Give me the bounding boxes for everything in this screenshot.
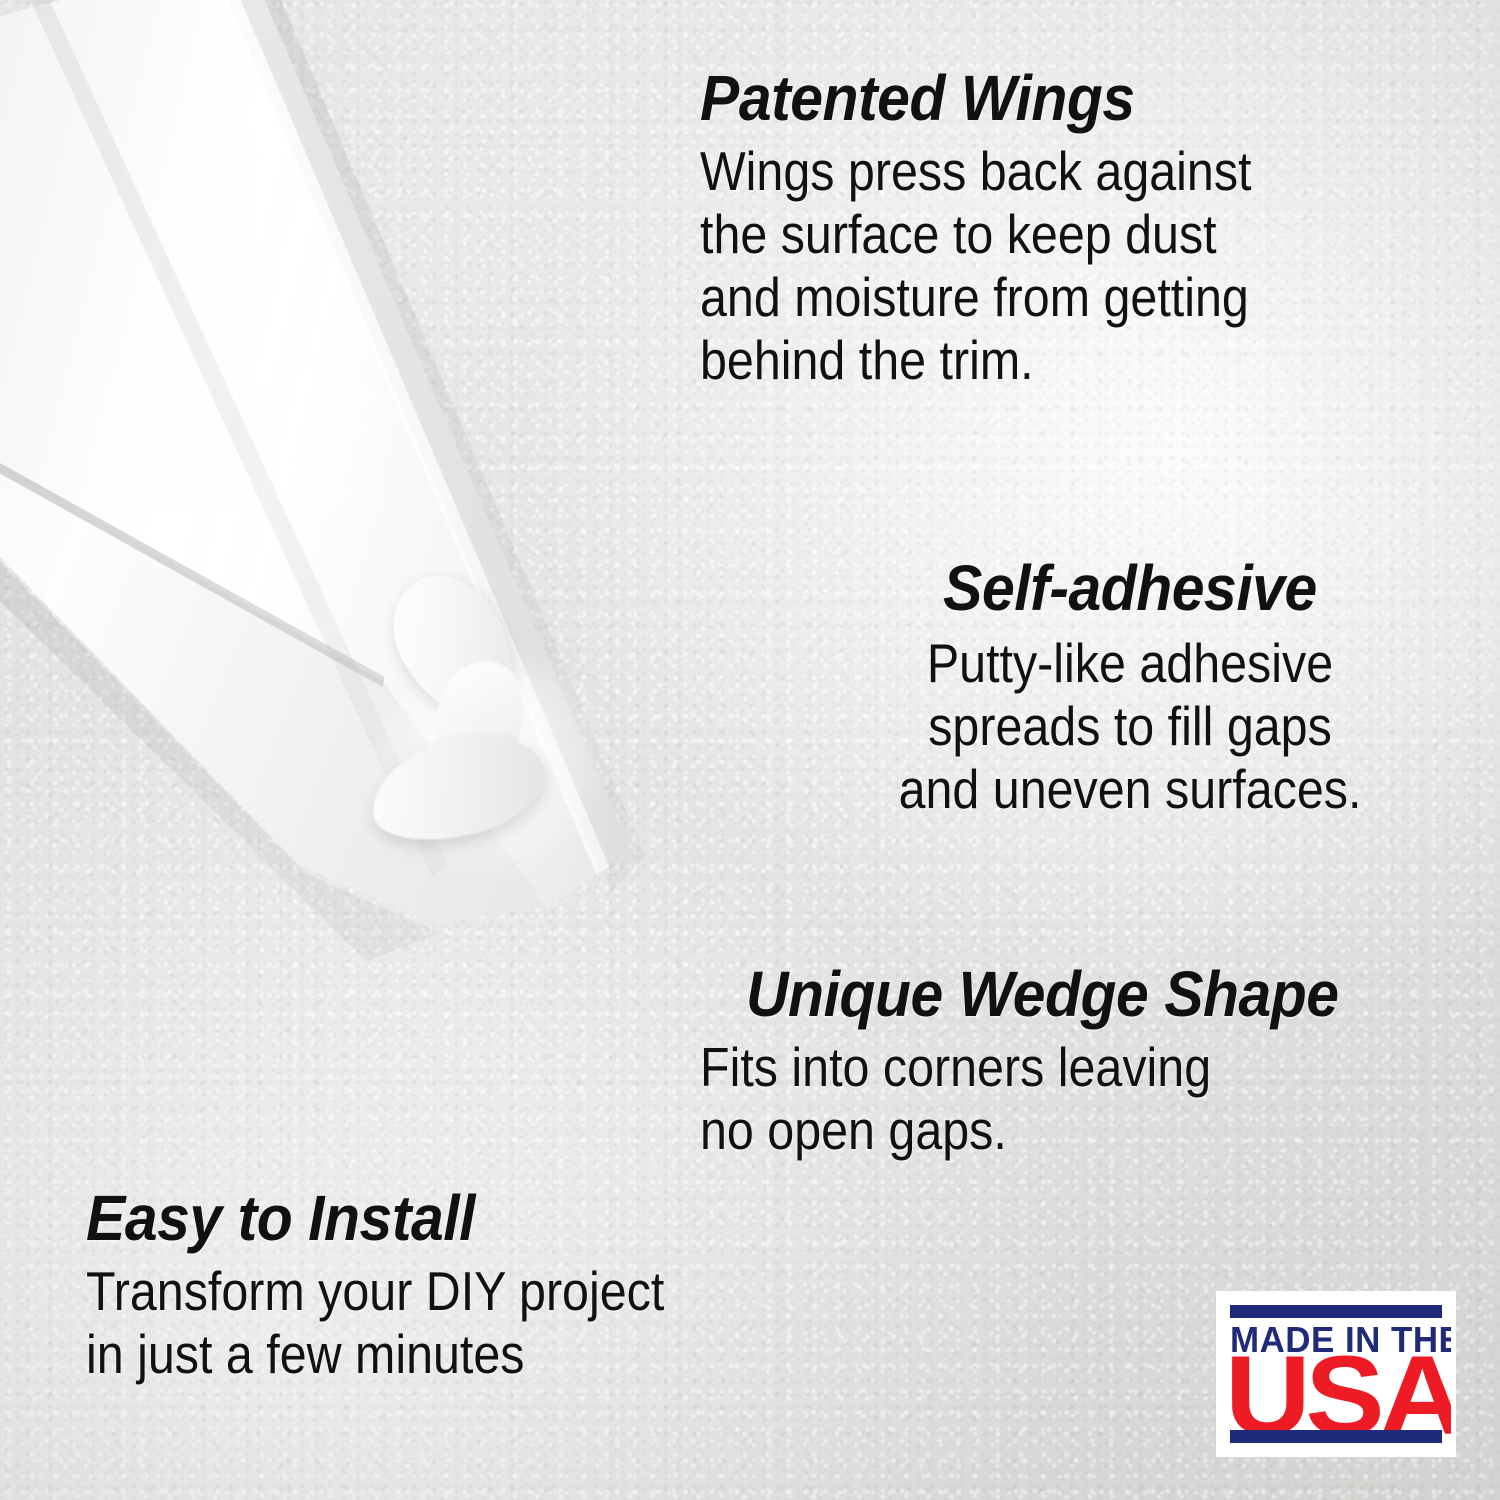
feature-body-line: in just a few minutes [86, 1323, 702, 1386]
feature-body-line: the surface to keep dust [700, 203, 1316, 266]
feature-body-line: and uneven surfaces. [857, 758, 1403, 821]
feature-heading-easy-to-install: Easy to Install [86, 1186, 730, 1250]
feature-heading-self-adhesive: Self-adhesive [845, 556, 1415, 620]
feature-body-line: Putty-like adhesive [857, 632, 1403, 695]
feature-body-patented-wings: Wings press back against the surface to … [700, 140, 1316, 392]
feature-block-patented-wings: Patented Wings Wings press back against … [700, 66, 1400, 392]
feature-body-easy-to-install: Transform your DIY project in just a few… [86, 1260, 702, 1386]
badge-inner-panel: MADE IN THE USA [1221, 1296, 1451, 1452]
feature-body-line: no open gaps. [700, 1099, 1374, 1162]
feature-body-line: Fits into corners leaving [700, 1036, 1374, 1099]
feature-body-line: behind the trim. [700, 329, 1316, 392]
feature-body-line: spreads to fill gaps [857, 695, 1403, 758]
feature-body-line: and moisture from getting [700, 266, 1316, 329]
feature-block-easy-to-install: Easy to Install Transform your DIY proje… [86, 1186, 786, 1386]
feature-heading-unique-wedge-shape: Unique Wedge Shape [746, 962, 1408, 1026]
badge-bottom-bar [1230, 1430, 1442, 1443]
feature-block-unique-wedge-shape: Unique Wedge Shape Fits into corners lea… [746, 962, 1466, 1162]
feature-body-unique-wedge-shape: Fits into corners leaving no open gaps. [700, 1036, 1374, 1162]
feature-block-self-adhesive: Self-adhesive Putty-like adhesive spread… [820, 556, 1440, 821]
feature-body-line: Transform your DIY project [86, 1260, 702, 1323]
feature-body-self-adhesive: Putty-like adhesive spreads to fill gaps… [857, 632, 1403, 821]
feature-heading-patented-wings: Patented Wings [700, 66, 1344, 130]
feature-body-line: Wings press back against [700, 140, 1316, 203]
badge-top-bar [1230, 1305, 1442, 1318]
product-image-pvc-wedge-trim [0, 0, 760, 1020]
made-in-usa-badge: MADE IN THE USA [1216, 1291, 1456, 1457]
infographic-canvas: Patented Wings Wings press back against … [0, 0, 1500, 1500]
